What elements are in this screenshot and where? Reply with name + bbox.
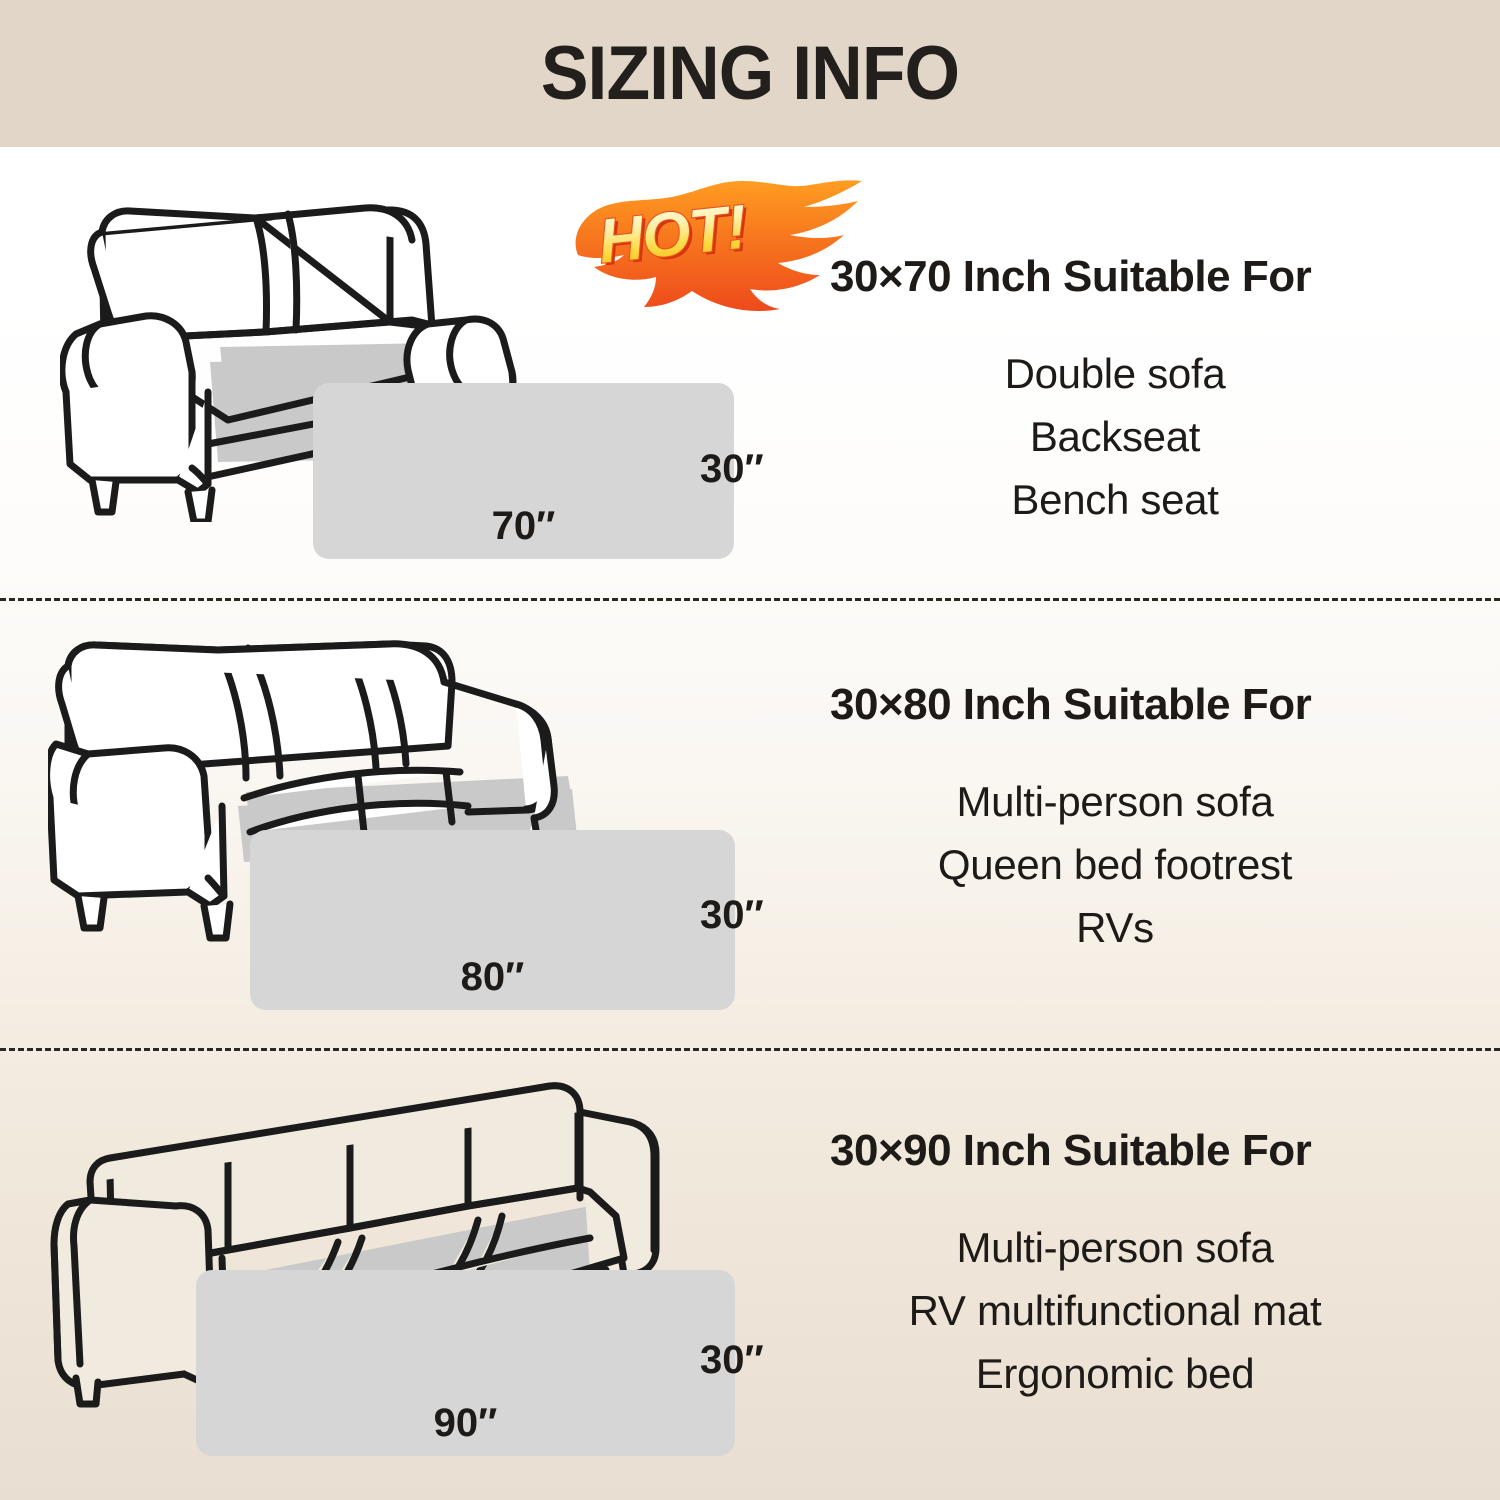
- size-section-30x90: 90″ 30″ 30×90 Inch Suitable For Multi-pe…: [0, 1048, 1500, 1500]
- height-label-30: 30″: [700, 447, 764, 492]
- size-section-30x80: 80″ 30″ 30×80 Inch Suitable For Multi-pe…: [0, 598, 1500, 1048]
- use-item: Bench seat: [830, 468, 1400, 531]
- size-text-column-30x80: 30×80 Inch Suitable For Multi-person sof…: [830, 680, 1430, 959]
- size-heading-30x80: 30×80 Inch Suitable For: [830, 680, 1430, 730]
- use-item: Double sofa: [830, 342, 1400, 405]
- use-item: Queen bed footrest: [830, 833, 1400, 896]
- size-text-column-30x90: 30×90 Inch Suitable For Multi-person sof…: [830, 1126, 1430, 1405]
- use-item: Multi-person sofa: [830, 1216, 1400, 1279]
- measurement-block-30x70: 70″: [313, 383, 734, 559]
- measurement-block-30x90: 90″: [196, 1270, 735, 1456]
- size-text-column-30x70: 30×70 Inch Suitable For Double sofa Back…: [830, 252, 1430, 531]
- sizing-info-infographic: SIZING INFO: [0, 0, 1500, 1500]
- page-title: SIZING INFO: [45, 26, 1455, 122]
- use-list-30x90: Multi-person sofa RV multifunctional mat…: [830, 1216, 1430, 1405]
- height-label-30: 30″: [700, 1338, 764, 1383]
- use-list-30x70: Double sofa Backseat Bench seat: [830, 342, 1430, 531]
- use-item: Ergonomic bed: [830, 1342, 1400, 1405]
- use-item: RVs: [830, 896, 1400, 959]
- size-heading-30x90: 30×90 Inch Suitable For: [830, 1126, 1430, 1176]
- width-label-90: 90″: [434, 1401, 498, 1446]
- use-list-30x80: Multi-person sofa Queen bed footrest RVs: [830, 770, 1430, 959]
- width-label-70: 70″: [492, 504, 556, 549]
- use-item: RV multifunctional mat: [830, 1279, 1400, 1342]
- size-heading-30x70: 30×70 Inch Suitable For: [830, 252, 1430, 302]
- width-label-80: 80″: [461, 955, 525, 1000]
- use-item: Backseat: [830, 405, 1400, 468]
- use-item: Multi-person sofa: [830, 770, 1400, 833]
- measurement-block-30x80: 80″: [250, 830, 735, 1010]
- size-section-30x70: 70″ 30″: [0, 147, 1500, 598]
- height-label-30: 30″: [700, 893, 764, 938]
